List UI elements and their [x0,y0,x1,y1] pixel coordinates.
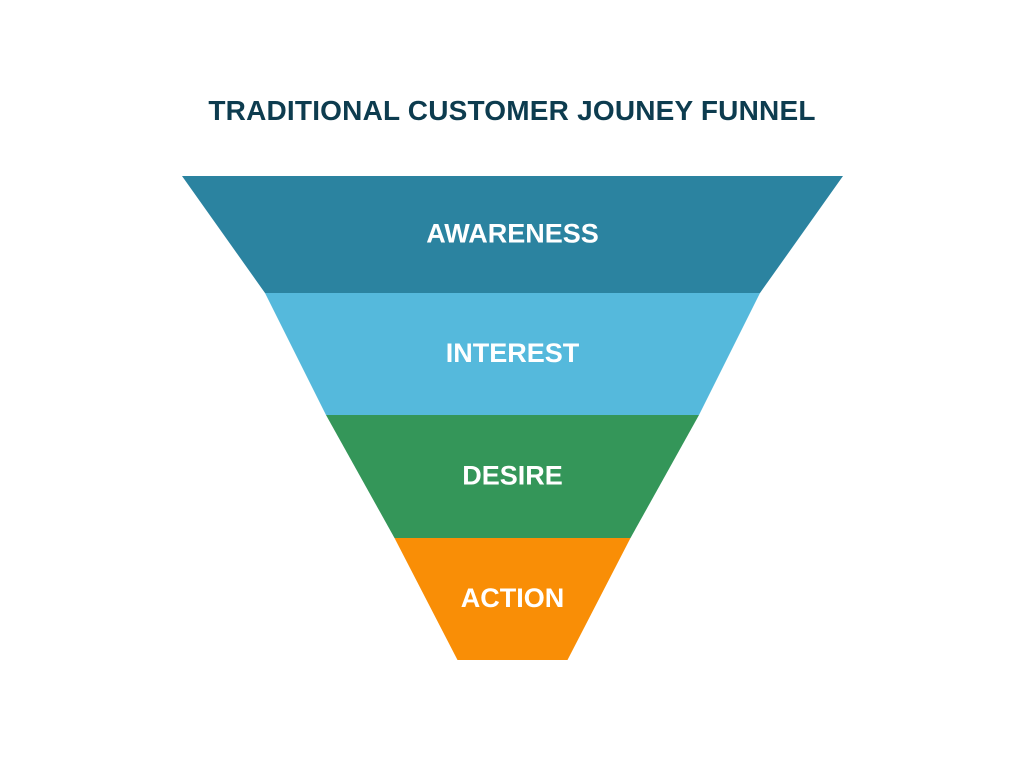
funnel-stage-desire[interactable]: DESIRE [326,415,699,538]
funnel-label-interest: INTEREST [446,338,580,368]
funnel-bands-group: AWARENESS INTEREST DESIRE ACTION [182,176,843,660]
funnel-label-action: ACTION [461,583,565,613]
funnel-stage-action[interactable]: ACTION [395,538,631,660]
funnel-stage-awareness[interactable]: AWARENESS [182,176,843,293]
funnel-label-desire: DESIRE [462,461,563,491]
funnel-chart: AWARENESS INTEREST DESIRE ACTION [0,0,1024,761]
funnel-label-awareness: AWARENESS [426,219,599,249]
funnel-diagram-canvas: TRADITIONAL CUSTOMER JOUNEY FUNNEL AWARE… [0,0,1024,761]
funnel-stage-interest[interactable]: INTEREST [265,293,760,415]
